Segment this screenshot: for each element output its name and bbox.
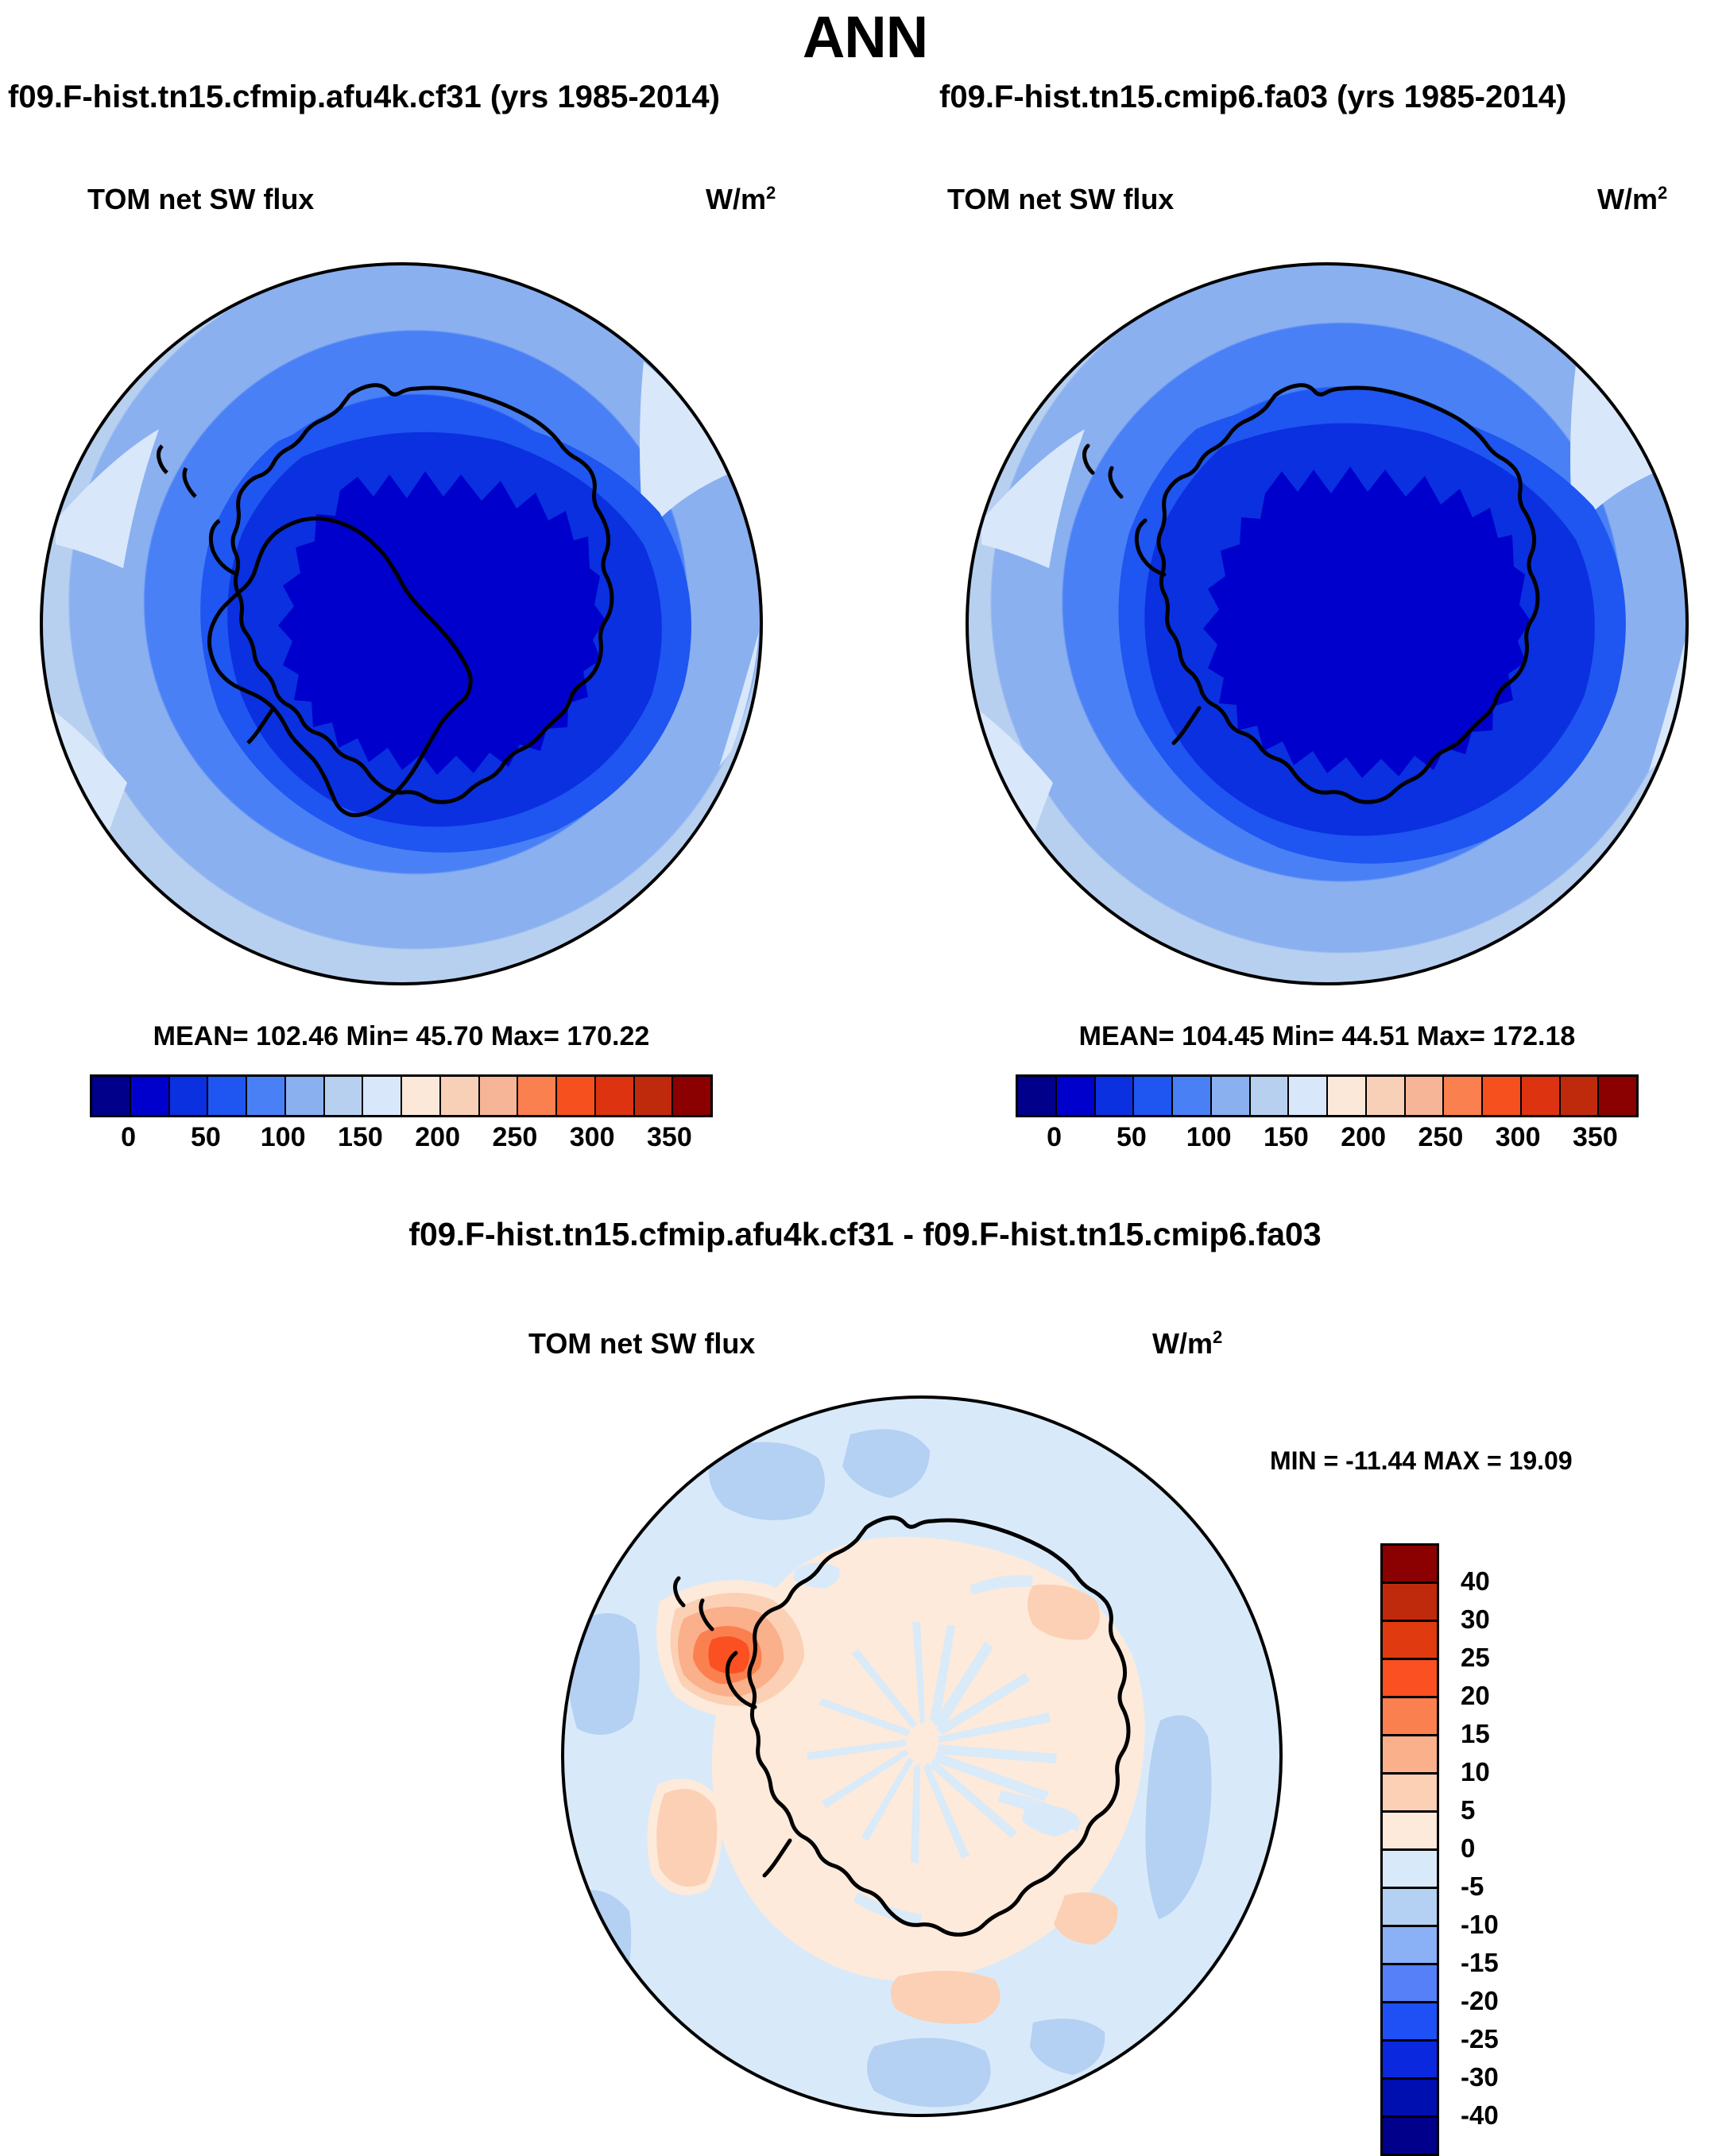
- colorbar-segment: [480, 1077, 519, 1115]
- colorbar-segment: [1383, 1813, 1437, 1851]
- colorbar-segment: [1212, 1077, 1251, 1115]
- colorbar-left[interactable]: [90, 1074, 713, 1117]
- colorbar-tick-label: 200: [1341, 1122, 1386, 1153]
- colorbar-segment: [635, 1077, 674, 1115]
- colorbar-segment: [325, 1077, 364, 1115]
- colorbar-segment: [1173, 1077, 1212, 1115]
- unit-label-right: W/m2: [1597, 183, 1667, 216]
- unit-exponent-left: 2: [766, 183, 776, 203]
- colorbar-tick-label: 250: [493, 1122, 538, 1153]
- colorbar-segment: [1444, 1077, 1483, 1115]
- colorbar-segment: [170, 1077, 209, 1115]
- unit-label-left: W/m2: [706, 183, 776, 216]
- stats-left: MEAN= 102.46 Min= 45.70 Max= 170.22: [40, 1021, 763, 1052]
- colorbar-tick-label: -40: [1461, 2100, 1499, 2131]
- colorbar-diff[interactable]: [1380, 1543, 1439, 2156]
- colorbar-tick-label: 350: [1573, 1122, 1618, 1153]
- colorbar-segment: [208, 1077, 247, 1115]
- map-diff-contours: [561, 1395, 1283, 2117]
- colorbar-segment: [1561, 1077, 1600, 1115]
- colorbar-segment: [92, 1077, 131, 1115]
- colorbar-tick-label: 150: [338, 1122, 383, 1153]
- colorbar-tick-label: -10: [1461, 1910, 1499, 1940]
- colorbar-segment: [247, 1077, 286, 1115]
- colorbar-segment: [1383, 1698, 1437, 1736]
- colorbar-segment: [1383, 1927, 1437, 1965]
- unit-exponent-diff: 2: [1213, 1327, 1222, 1347]
- colorbar-segment: [1289, 1077, 1328, 1115]
- colorbar-segment: [1383, 1546, 1437, 1584]
- colorbar-tick-label: 250: [1418, 1122, 1464, 1153]
- colorbar-segment: [1383, 1736, 1437, 1775]
- colorbar-tick-label: 30: [1461, 1604, 1490, 1635]
- colorbar-tick-label: 0: [1047, 1122, 1062, 1153]
- colorbar-segment: [1383, 1889, 1437, 1927]
- unit-text-left: W/m: [706, 183, 766, 215]
- diff-minmax: MIN = -11.44 MAX = 19.09: [1270, 1446, 1573, 1476]
- colorbar-tick-label: 350: [647, 1122, 692, 1153]
- colorbar-segment: [1328, 1077, 1367, 1115]
- colorbar-tick-label: 5: [1461, 1795, 1475, 1825]
- colorbar-segment: [1599, 1077, 1636, 1115]
- colorbar-tick-label: -15: [1461, 1948, 1499, 1978]
- colorbar-segment: [441, 1077, 480, 1115]
- field-label-diff: TOM net SW flux: [528, 1327, 755, 1361]
- map-left: [40, 258, 763, 989]
- colorbar-tick-label: 300: [1496, 1122, 1541, 1153]
- colorbar-segment: [1522, 1077, 1561, 1115]
- colorbar-segment: [1383, 2003, 1437, 2042]
- colorbar-tick-label: 100: [261, 1122, 306, 1153]
- colorbar-tick-label: -5: [1461, 1872, 1484, 1902]
- colorbar-segment: [1367, 1077, 1406, 1115]
- colorbar-segment: [1383, 1622, 1437, 1660]
- colorbar-left-ticks: 050100150200250300350: [90, 1122, 708, 1157]
- colorbar-right-ticks: 050100150200250300350: [1016, 1122, 1634, 1157]
- colorbar-tick-label: 0: [1461, 1833, 1475, 1864]
- colorbar-segment: [1483, 1077, 1522, 1115]
- page-title: ANN: [0, 3, 1730, 71]
- diff-title: f09.F-hist.tn15.cfmip.afu4k.cf31 - f09.F…: [0, 1216, 1730, 1253]
- colorbar-segment: [402, 1077, 441, 1115]
- colorbar-segment: [1383, 1775, 1437, 1813]
- colorbar-tick-label: 20: [1461, 1681, 1490, 1711]
- colorbar-segment: [1383, 1851, 1437, 1889]
- colorbar-tick-label: -30: [1461, 2062, 1499, 2092]
- colorbar-tick-label: -20: [1461, 1986, 1499, 2016]
- case-title-right: f09.F-hist.tn15.cmip6.fa03 (yrs 1985-201…: [939, 79, 1566, 115]
- colorbar-segment: [518, 1077, 557, 1115]
- colorbar-tick-label: 10: [1461, 1757, 1490, 1787]
- colorbar-segment: [1383, 1965, 1437, 2003]
- map-left-contours: [40, 262, 763, 985]
- colorbar-segment: [1134, 1077, 1173, 1115]
- colorbar-segment: [557, 1077, 596, 1115]
- colorbar-segment: [1383, 2118, 1437, 2154]
- colorbar-tick-label: 15: [1461, 1719, 1490, 1749]
- map-right-contours: [966, 262, 1689, 985]
- unit-exponent-right: 2: [1658, 183, 1667, 203]
- map-right: [966, 258, 1689, 989]
- colorbar-segment: [1018, 1077, 1057, 1115]
- colorbar-segment: [1096, 1077, 1135, 1115]
- colorbar-segment: [1406, 1077, 1445, 1115]
- unit-label-diff: W/m2: [1152, 1327, 1222, 1361]
- colorbar-segment: [1251, 1077, 1290, 1115]
- colorbar-tick-label: 50: [191, 1122, 221, 1153]
- colorbar-segment: [1383, 2080, 1437, 2118]
- colorbar-segment: [286, 1077, 325, 1115]
- colorbar-segment: [673, 1077, 710, 1115]
- colorbar-segment: [363, 1077, 402, 1115]
- colorbar-segment: [1057, 1077, 1096, 1115]
- colorbar-segment: [596, 1077, 635, 1115]
- colorbar-tick-label: 300: [570, 1122, 615, 1153]
- colorbar-tick-label: 0: [121, 1122, 136, 1153]
- colorbar-tick-label: -25: [1461, 2024, 1499, 2054]
- stats-right: MEAN= 104.45 Min= 44.51 Max= 172.18: [966, 1021, 1689, 1052]
- colorbar-segment: [1383, 1660, 1437, 1698]
- colorbar-tick-label: 150: [1264, 1122, 1309, 1153]
- colorbar-tick-label: 200: [415, 1122, 460, 1153]
- field-label-left: TOM net SW flux: [87, 183, 314, 216]
- colorbar-tick-label: 40: [1461, 1566, 1490, 1597]
- colorbar-tick-label: 100: [1186, 1122, 1232, 1153]
- colorbar-segment: [131, 1077, 170, 1115]
- colorbar-segment: [1383, 2042, 1437, 2080]
- unit-text-right: W/m: [1597, 183, 1658, 215]
- case-title-left: f09.F-hist.tn15.cfmip.afu4k.cf31 (yrs 19…: [8, 79, 720, 115]
- colorbar-tick-label: 25: [1461, 1643, 1490, 1673]
- unit-text-diff: W/m: [1152, 1327, 1213, 1360]
- colorbar-segment: [1383, 1584, 1437, 1622]
- map-diff: [556, 1387, 1287, 2126]
- colorbar-right[interactable]: [1016, 1074, 1639, 1117]
- colorbar-tick-label: 50: [1117, 1122, 1147, 1153]
- field-label-right: TOM net SW flux: [947, 183, 1174, 216]
